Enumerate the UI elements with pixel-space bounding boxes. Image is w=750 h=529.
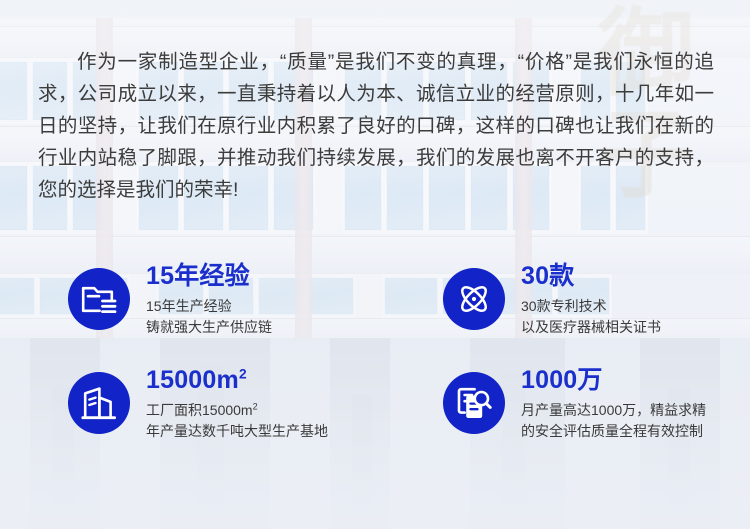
feature-desc-line-1: 工厂面积15000m (146, 402, 253, 418)
document-search-icon (443, 372, 505, 434)
atom-icon (443, 268, 505, 330)
feature-desc-line-2: 的安全评估质量全程有效控制 (521, 423, 703, 439)
feature-desc-line-2: 以及医疗器械相关证书 (521, 319, 661, 335)
feature-desc-superscript: 2 (253, 401, 258, 411)
feature-text-block: 30款 30款专利技术 以及医疗器械相关证书 (521, 262, 661, 338)
feature-description: 30款专利技术 以及医疗器械相关证书 (521, 296, 661, 338)
feature-description: 月产量高达1000万，精益求精 的安全评估质量全程有效控制 (521, 400, 706, 442)
feature-title: 15年经验 (146, 262, 272, 290)
folder-document-icon (68, 268, 130, 330)
feature-highlights-grid: 15年经验 15年生产经验 铸就强大生产供应链 3 (0, 262, 750, 442)
feature-desc-line-1: 30款专利技术 (521, 298, 607, 314)
feature-desc-line-2: 铸就强大生产供应链 (146, 319, 272, 335)
banner-content: 作为一家制造型企业，“质量”是我们不变的真理，“价格”是我们永恒的追求，公司成立… (0, 0, 750, 529)
feature-description: 15年生产经验 铸就强大生产供应链 (146, 296, 272, 338)
feature-item-factory-area[interactable]: 15000m2 工厂面积15000m2 年产量达数千吨大型生产基地 (0, 366, 375, 442)
feature-desc-line-1: 15年生产经验 (146, 298, 232, 314)
feature-text-block: 15000m2 工厂面积15000m2 年产量达数千吨大型生产基地 (146, 366, 328, 442)
feature-title: 30款 (521, 262, 661, 290)
feature-item-monthly-output[interactable]: 1000万 月产量高达1000万，精益求精 的安全评估质量全程有效控制 (375, 366, 750, 442)
feature-title-main: 15000m (146, 366, 239, 394)
feature-title-superscript: 2 (239, 367, 247, 382)
building-icon (68, 372, 130, 434)
feature-title: 1000万 (521, 366, 706, 394)
feature-text-block: 15年经验 15年生产经验 铸就强大生产供应链 (146, 262, 272, 338)
feature-item-patents[interactable]: 30款 30款专利技术 以及医疗器械相关证书 (375, 262, 750, 338)
feature-title: 15000m2 (146, 366, 328, 394)
feature-text-block: 1000万 月产量高达1000万，精益求精 的安全评估质量全程有效控制 (521, 366, 706, 442)
feature-desc-line-2: 年产量达数千吨大型生产基地 (146, 423, 328, 439)
promo-banner: 御子 作为一家制造型企业，“质量”是我们不变的真理，“价格”是我们永恒的追求，公… (0, 0, 750, 529)
feature-desc-line-1: 月产量高达1000万，精益求精 (521, 402, 706, 418)
feature-item-experience[interactable]: 15年经验 15年生产经验 铸就强大生产供应链 (0, 262, 375, 338)
feature-description: 工厂面积15000m2 年产量达数千吨大型生产基地 (146, 400, 328, 442)
company-intro-paragraph: 作为一家制造型企业，“质量”是我们不变的真理，“价格”是我们永恒的追求，公司成立… (38, 46, 714, 206)
